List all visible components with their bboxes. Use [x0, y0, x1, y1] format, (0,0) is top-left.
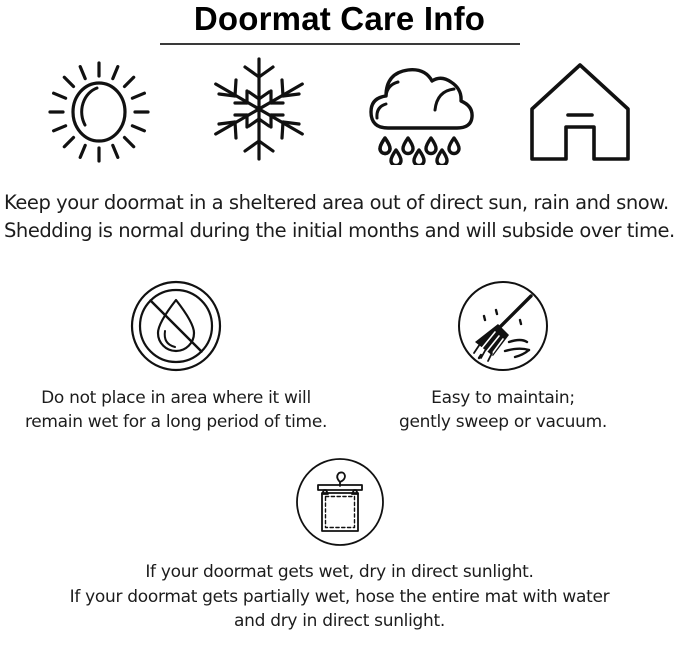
care-item-no-water: Do not place in area where it will remai… [26, 280, 326, 434]
weather-icon-cell-house [515, 59, 645, 165]
intro-line-1: Keep your doormat in a sheltered area ou… [4, 189, 675, 218]
rain-cloud-icon [361, 55, 479, 165]
hanging-mat-badge [296, 458, 384, 546]
weather-icon-row [0, 45, 679, 165]
care-item-no-water-caption: Do not place in area where it will remai… [25, 386, 327, 434]
caption-line-1: Do not place in area where it will [25, 386, 327, 410]
weather-icon-cell-sun [34, 59, 164, 165]
title-block: Doormat Care Info [0, 0, 679, 45]
caption-line-1: Easy to maintain; [399, 386, 607, 410]
broom-badge [457, 280, 549, 372]
care-items-row: Do not place in area where it will remai… [0, 280, 679, 434]
hanging-mat-icon [296, 458, 384, 546]
weather-icon-cell-rain [355, 55, 485, 165]
intro-line-2: Shedding is normal during the initial mo… [4, 217, 675, 246]
caption-line-2: remain wet for a long period of time. [25, 410, 327, 434]
drying-instruction-block: If your doormat gets wet, dry in direct … [0, 458, 679, 634]
broom-sweep-icon [457, 280, 549, 372]
snowflake-icon [209, 53, 309, 165]
no-water-badge [130, 280, 222, 372]
care-item-sweep-caption: Easy to maintain; gently sweep or vacuum… [399, 386, 607, 434]
house-icon [524, 59, 636, 165]
sun-icon [46, 59, 152, 165]
caption-line-1: If your doormat gets wet, dry in direct … [70, 560, 610, 585]
caption-line-2: gently sweep or vacuum. [399, 410, 607, 434]
no-water-icon [130, 280, 222, 372]
page-title: Doormat Care Info [0, 2, 679, 37]
caption-line-2: If your doormat gets partially wet, hose… [70, 585, 610, 610]
intro-paragraph: Keep your doormat in a sheltered area ou… [0, 189, 679, 246]
care-item-sweep: Easy to maintain; gently sweep or vacuum… [353, 280, 653, 434]
caption-line-3: and dry in direct sunlight. [70, 609, 610, 634]
weather-icon-cell-snow [194, 53, 324, 165]
doormat-care-info-page: Doormat Care Info [0, 0, 679, 655]
drying-instruction-caption: If your doormat gets wet, dry in direct … [70, 560, 610, 634]
